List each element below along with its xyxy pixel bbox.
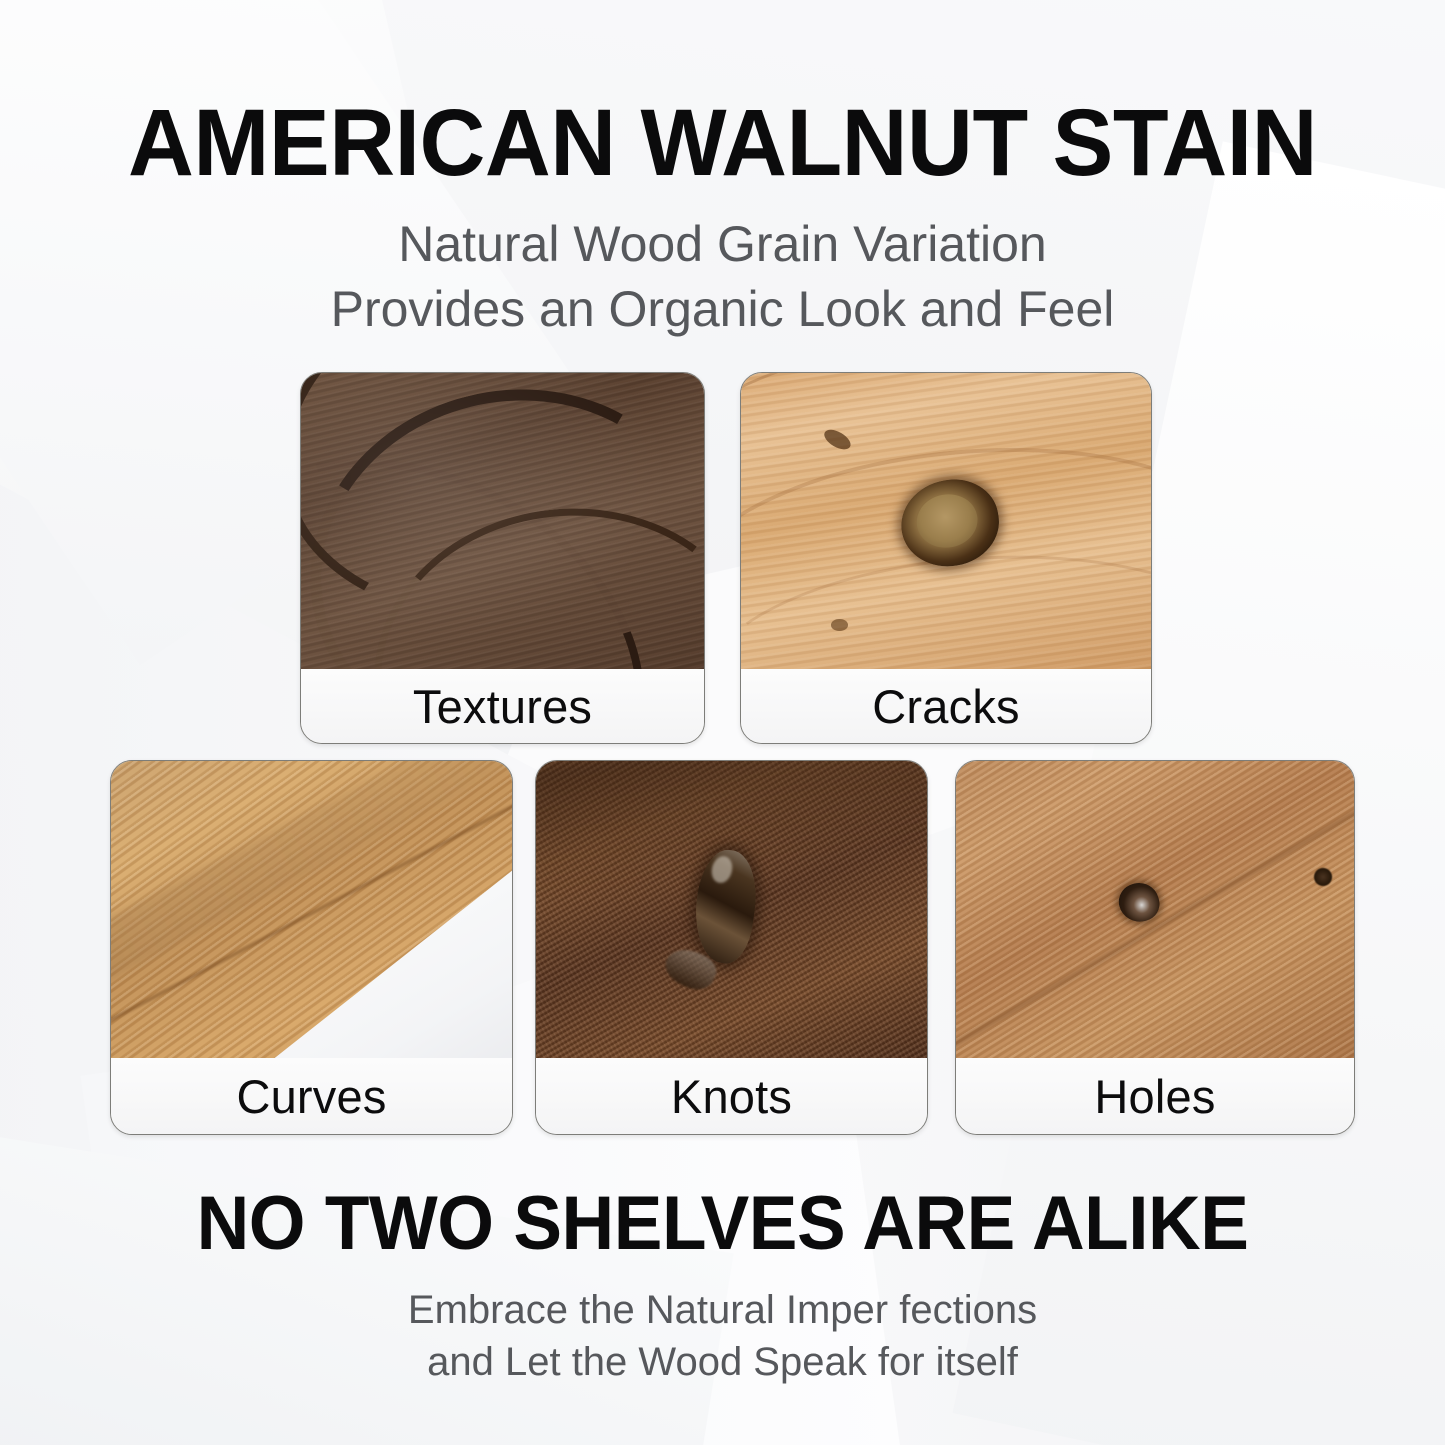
knots-photo [536, 761, 927, 1058]
header-subtitle-line-1: Natural Wood Grain Variation [0, 212, 1445, 277]
header-subtitle-line-2: Provides an Organic Look and Feel [0, 277, 1445, 342]
curves-label: Curves [111, 1058, 512, 1134]
knots-label: Knots [536, 1058, 927, 1134]
feature-card-curves[interactable]: Curves [110, 760, 513, 1135]
header-subtitle: Natural Wood Grain Variation Provides an… [0, 212, 1445, 342]
feature-card-knots[interactable]: Knots [535, 760, 928, 1135]
holes-label: Holes [956, 1058, 1354, 1134]
cracks-label: Cracks [741, 669, 1151, 743]
footer-subtitle-line-1: Embrace the Natural Imper fections [0, 1284, 1445, 1336]
feature-card-holes[interactable]: Holes [955, 760, 1355, 1135]
feature-card-textures[interactable]: Textures [300, 372, 705, 744]
textures-photo [301, 373, 704, 669]
footer-subtitle: Embrace the Natural Imper fections and L… [0, 1284, 1445, 1388]
textures-label: Textures [301, 669, 704, 743]
footer-subtitle-line-2: and Let the Wood Speak for itself [0, 1336, 1445, 1388]
cracks-photo [741, 373, 1151, 669]
curves-photo [111, 761, 512, 1058]
footer-title: NO TWO SHELVES ARE ALIKE [29, 1186, 1416, 1262]
infographic-page: AMERICAN WALNUT STAIN Natural Wood Grain… [0, 0, 1445, 1445]
holes-photo [956, 761, 1354, 1058]
feature-card-cracks[interactable]: Cracks [740, 372, 1152, 744]
page-title: AMERICAN WALNUT STAIN [29, 96, 1416, 191]
